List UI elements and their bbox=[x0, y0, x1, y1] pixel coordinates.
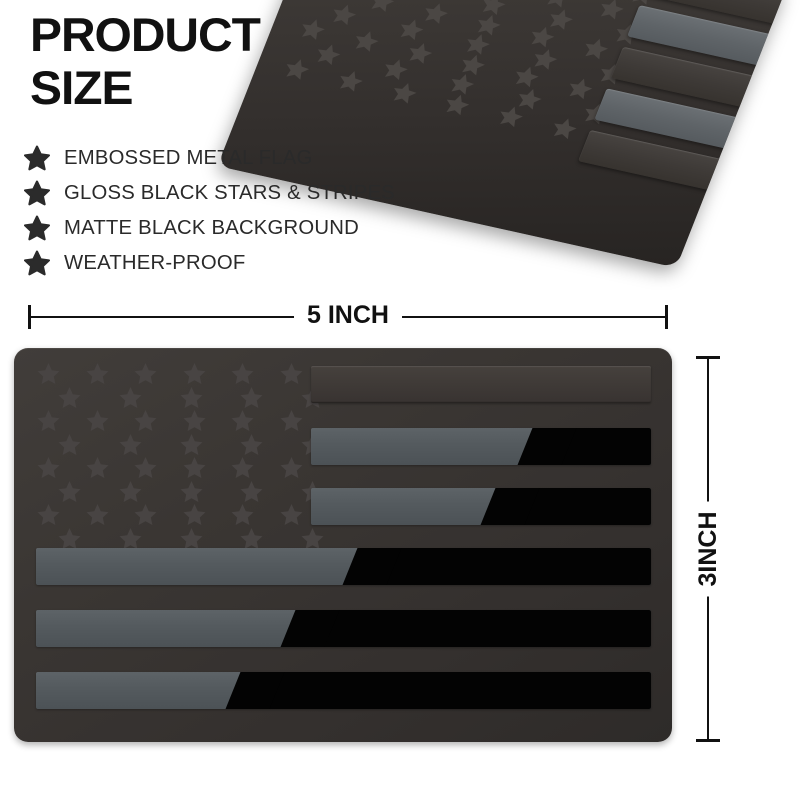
list-item: MATTE BLACK BACKGROUND bbox=[24, 210, 464, 245]
stripe-gloss-segment bbox=[307, 610, 651, 647]
star-icon bbox=[230, 503, 255, 526]
flag-stripe bbox=[311, 488, 651, 525]
star-icon bbox=[441, 91, 475, 117]
title-line-2: SIZE bbox=[30, 61, 367, 114]
dimension-end-cap-bottom bbox=[696, 739, 720, 742]
star-icon bbox=[24, 180, 50, 206]
flag-stripe bbox=[36, 672, 651, 709]
feature-list: EMBOSSED METAL FLAG GLOSS BLACK STARS & … bbox=[24, 140, 464, 280]
height-dimension: 3INCH bbox=[707, 356, 709, 742]
star-icon bbox=[182, 503, 207, 526]
star-icon bbox=[133, 362, 158, 385]
star-icon bbox=[179, 386, 204, 409]
feature-label: MATTE BLACK BACKGROUND bbox=[64, 216, 359, 240]
star-icon bbox=[239, 386, 264, 409]
star-icon bbox=[57, 527, 82, 550]
stripe-gloss-segment bbox=[368, 548, 651, 585]
list-item: EMBOSSED METAL FLAG bbox=[24, 140, 464, 175]
star-icon bbox=[133, 456, 158, 479]
star-row bbox=[36, 480, 346, 504]
star-icon bbox=[118, 527, 143, 550]
star-icon bbox=[387, 79, 421, 105]
list-item: WEATHER-PROOF bbox=[24, 245, 464, 280]
feature-label: GLOSS BLACK STARS & STRIPES bbox=[64, 181, 395, 205]
star-icon bbox=[36, 503, 61, 526]
star-row bbox=[36, 362, 304, 386]
hero-stripe bbox=[578, 130, 789, 243]
star-icon bbox=[279, 362, 304, 385]
star-icon bbox=[239, 433, 264, 456]
star-row bbox=[36, 409, 304, 433]
star-icon bbox=[85, 456, 110, 479]
star-icon bbox=[239, 527, 264, 550]
flag-stripe bbox=[36, 610, 651, 647]
star-icon bbox=[133, 409, 158, 432]
star-icon bbox=[279, 456, 304, 479]
star-icon bbox=[24, 215, 50, 241]
star-field-canton bbox=[36, 362, 304, 574]
star-row bbox=[36, 456, 304, 480]
star-icon bbox=[239, 480, 264, 503]
plate-surface bbox=[14, 348, 672, 742]
flag-stripe bbox=[311, 428, 651, 465]
dimension-end-cap-top bbox=[696, 356, 720, 359]
list-item: GLOSS BLACK STARS & STRIPES bbox=[24, 175, 464, 210]
star-icon bbox=[548, 115, 582, 141]
width-dimension-label: 5 INCH bbox=[294, 300, 402, 330]
star-icon bbox=[36, 456, 61, 479]
page-title: PRODUCT SIZE bbox=[30, 8, 367, 114]
star-icon bbox=[36, 409, 61, 432]
star-icon bbox=[118, 480, 143, 503]
star-row bbox=[36, 386, 346, 410]
product-flag-plate bbox=[14, 348, 672, 742]
star-row bbox=[36, 433, 346, 457]
dimension-end-cap-right bbox=[665, 305, 668, 329]
star-icon bbox=[300, 527, 325, 550]
star-icon bbox=[57, 386, 82, 409]
dimension-end-cap-left bbox=[28, 305, 31, 329]
star-icon bbox=[230, 362, 255, 385]
star-icon bbox=[85, 362, 110, 385]
star-icon bbox=[118, 433, 143, 456]
star-icon bbox=[179, 433, 204, 456]
stripe-gloss-segment bbox=[251, 672, 651, 709]
star-icon bbox=[182, 456, 207, 479]
title-line-1: PRODUCT bbox=[30, 8, 260, 61]
star-icon bbox=[57, 480, 82, 503]
star-icon bbox=[133, 503, 158, 526]
star-icon bbox=[57, 433, 82, 456]
star-icon bbox=[36, 362, 61, 385]
star-icon bbox=[85, 503, 110, 526]
flag-stripe bbox=[36, 548, 651, 585]
star-icon bbox=[494, 103, 528, 129]
star-icon bbox=[24, 250, 50, 276]
star-icon bbox=[230, 409, 255, 432]
width-dimension: 5 INCH bbox=[28, 316, 668, 318]
star-row bbox=[36, 527, 346, 551]
star-icon bbox=[179, 480, 204, 503]
star-icon bbox=[118, 386, 143, 409]
star-icon bbox=[279, 503, 304, 526]
star-icon bbox=[85, 409, 110, 432]
star-icon bbox=[182, 362, 207, 385]
star-row bbox=[36, 503, 304, 527]
star-icon bbox=[279, 409, 304, 432]
star-icon bbox=[24, 145, 50, 171]
feature-label: WEATHER-PROOF bbox=[64, 251, 245, 275]
flag-stripe bbox=[311, 366, 651, 403]
star-icon bbox=[182, 409, 207, 432]
height-dimension-label: 3INCH bbox=[694, 501, 722, 596]
star-icon bbox=[179, 527, 204, 550]
product-size-infographic: PRODUCT SIZE EMBOSSED METAL FLAG GLOSS B… bbox=[0, 0, 800, 800]
feature-label: EMBOSSED METAL FLAG bbox=[64, 146, 312, 170]
star-icon bbox=[230, 456, 255, 479]
